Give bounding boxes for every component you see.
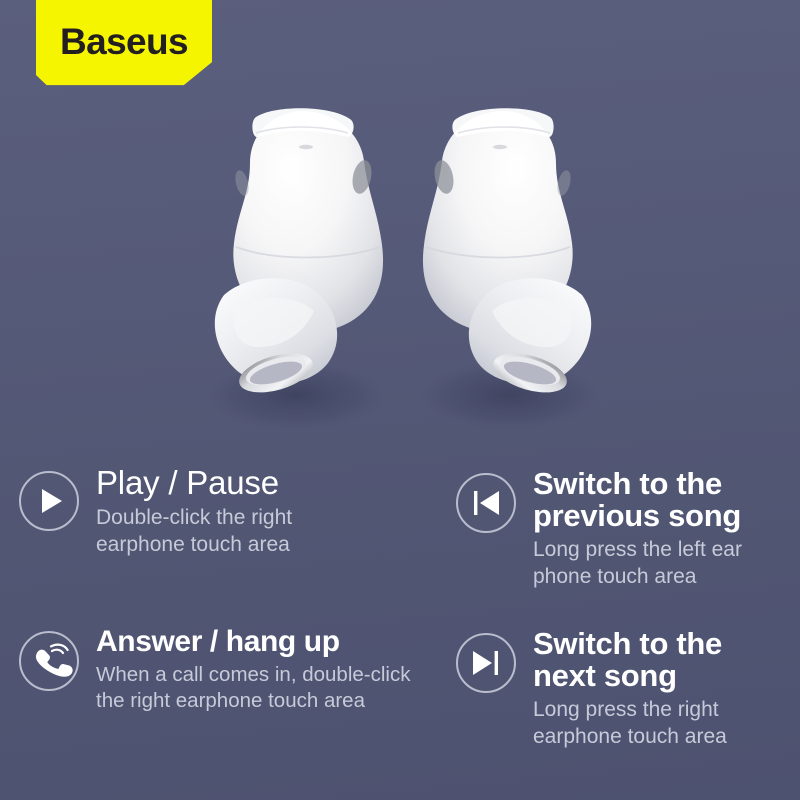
infographic-page: Baseus	[0, 0, 800, 800]
phone-ringing-icon	[18, 630, 80, 692]
feature-next-song: Switch to the next song Long press the r…	[455, 628, 795, 751]
feature-play-pause: Play / Pause Double-click the right earp…	[18, 466, 418, 559]
skip-previous-icon	[455, 472, 517, 534]
feature-previous-song: Switch to the previous song Long press t…	[455, 468, 795, 591]
skip-next-icon	[455, 632, 517, 694]
feature-list: Play / Pause Double-click the right earp…	[0, 458, 800, 800]
feature-description: When a call comes in, double-click the r…	[96, 662, 458, 714]
feature-title: Play / Pause	[96, 466, 418, 500]
feature-description: Double-click the right earphone touch ar…	[96, 505, 418, 559]
play-icon	[18, 470, 80, 532]
feature-description: Long press the left ear phone touch area	[533, 537, 795, 591]
feature-answer-hang-up: Answer / hang up When a call comes in, d…	[18, 626, 458, 715]
right-earbud	[398, 95, 628, 435]
feature-title: Switch to the next song	[533, 628, 795, 692]
feature-title: Answer / hang up	[96, 626, 458, 657]
product-image	[0, 95, 800, 455]
brand-name: Baseus	[60, 23, 188, 60]
feature-description: Long press the right earphone touch area	[533, 697, 795, 751]
feature-title: Switch to the previous song	[533, 468, 795, 532]
brand-logo-badge: Baseus	[36, 0, 212, 86]
left-earbud	[178, 95, 408, 435]
